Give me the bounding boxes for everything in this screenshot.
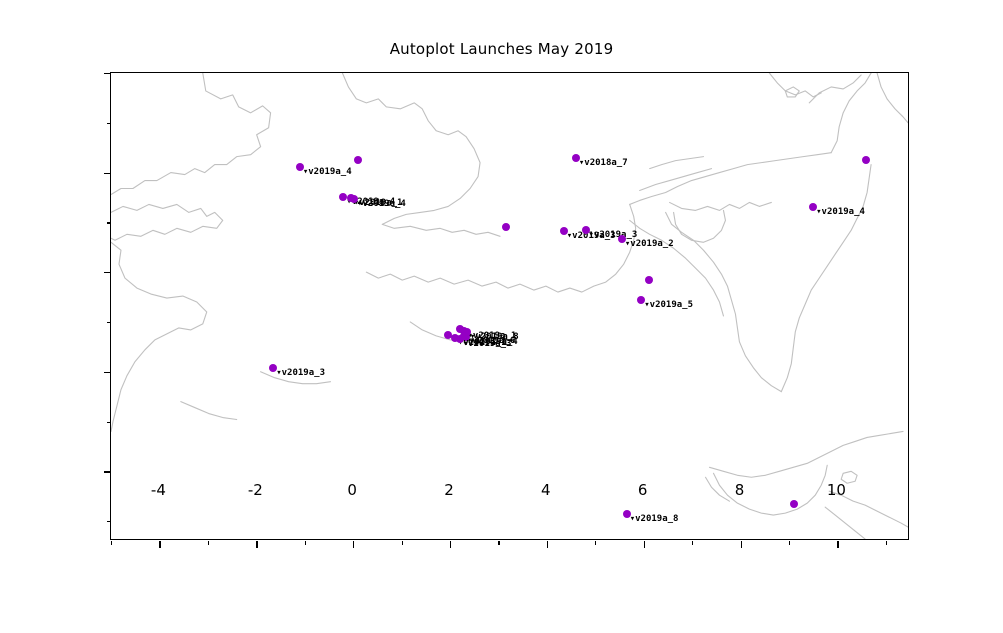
figure-canvas: Autoplot Launches May 2019	[0, 0, 1003, 633]
x-axis-label-10: 10	[806, 481, 866, 499]
scatter-point-label: ▾v2019a_3	[276, 369, 325, 378]
x-tick-minor-7	[692, 541, 693, 545]
x-tick--4	[159, 541, 160, 548]
y-tick-52	[104, 173, 111, 174]
x-tick-minor--5	[111, 541, 112, 545]
x-tick-minor-5	[595, 541, 596, 545]
x-axis-label-0: 0	[322, 481, 382, 499]
scatter-point[interactable]	[502, 223, 510, 231]
x-tick-minor-11	[886, 541, 887, 545]
x-tick--2	[256, 541, 257, 548]
x-axis-label-6: 6	[613, 481, 673, 499]
y-tick-48	[104, 372, 111, 373]
x-tick-10	[837, 541, 838, 548]
scatter-point[interactable]	[354, 156, 362, 164]
x-axis-label-2: 2	[419, 481, 479, 499]
x-tick-4	[547, 541, 548, 548]
x-tick-minor-1	[402, 541, 403, 545]
scatter-point-label: ▾v2019a_4	[816, 208, 865, 217]
y-tick-54	[104, 73, 111, 74]
x-tick-2	[450, 541, 451, 548]
x-tick-minor-9	[789, 541, 790, 545]
x-tick-8	[741, 541, 742, 548]
x-axis-label--4: -4	[128, 481, 188, 499]
scatter-point-label: ▾v2019a_5	[644, 301, 693, 310]
x-axis-label-4: 4	[516, 481, 576, 499]
x-tick-0	[353, 541, 354, 548]
scatter-point-label: ▾v2019a_4	[357, 200, 406, 209]
x-tick-minor--3	[208, 541, 209, 545]
scatter-point-label: ▾v2019a_2	[625, 240, 674, 249]
scatter-point[interactable]	[645, 276, 653, 284]
plot-area[interactable]: ▾v2019a_4▾v2019a_4▾v2019a_1▾v2019a_4▾v20…	[110, 72, 909, 540]
scatter-point[interactable]	[790, 500, 798, 508]
x-tick-minor--1	[305, 541, 306, 545]
scatter-point-label: ▾v2019a_4	[303, 168, 352, 177]
scatter-point[interactable]	[862, 156, 870, 164]
x-axis-label--2: -2	[225, 481, 285, 499]
y-tick-50	[104, 272, 111, 273]
scatter-point-label: ▾v2018a_7	[579, 159, 628, 168]
x-tick-minor-3	[498, 541, 499, 545]
x-axis-label-8: 8	[710, 481, 770, 499]
scatter-points-layer: ▾v2019a_4▾v2019a_4▾v2019a_1▾v2019a_4▾v20…	[111, 73, 908, 539]
scatter-point-label: ▾v2019a_8	[630, 515, 679, 524]
x-tick-6	[644, 541, 645, 548]
scatter-point-label: ▾v2019a_3	[463, 340, 512, 349]
page-title: Autoplot Launches May 2019	[0, 40, 1003, 58]
y-tick-46	[104, 471, 111, 472]
